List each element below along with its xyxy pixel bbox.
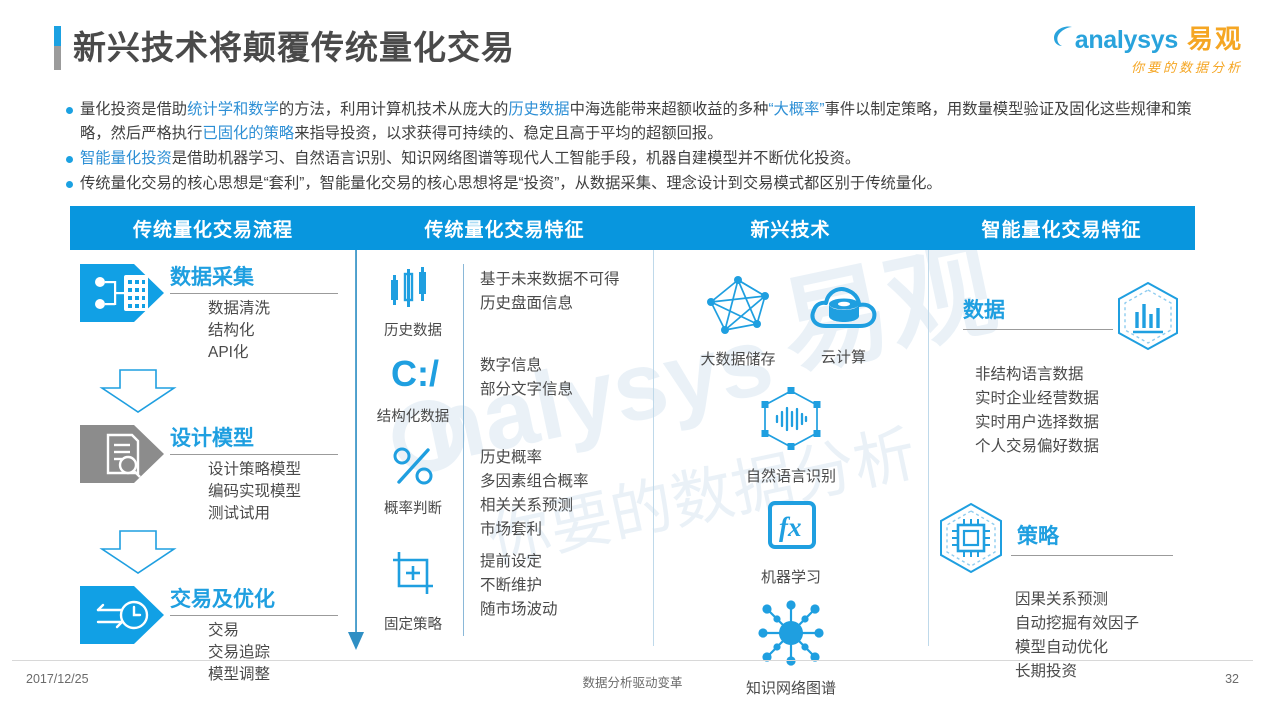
page-title: 新兴技术将颠覆传统量化交易 — [73, 26, 515, 70]
bullet-dot-icon — [66, 107, 73, 114]
smart-block-rule — [963, 329, 1113, 330]
feature-icon-label: 概率判断 — [367, 497, 459, 518]
logo-tagline: 你要的数据分析 — [1052, 57, 1243, 76]
smart-block-items: 非结构语言数据 实时企业经营数据 实时用户选择数据 个人交易偏好数据 — [975, 363, 1195, 459]
flow-title: 设计模型 — [170, 426, 338, 452]
tech-row-2: 自然语言识别 — [654, 383, 928, 486]
logo-english: analysys — [1075, 26, 1178, 54]
flow-item: 交易 — [208, 620, 338, 642]
page-title-wrap: 新兴技术将颠覆传统量化交易 — [54, 26, 515, 70]
smart-block-header: 数据 — [929, 270, 1195, 359]
feature-row: 固定策略 提前设定 不断维护 随市场波动 — [367, 546, 653, 636]
flow-item: API化 — [208, 342, 338, 364]
feature-item: 基于未来数据不可得 — [480, 268, 620, 292]
column-smart-features: 数据 — [928, 250, 1195, 646]
feature-icon-label: 历史数据 — [367, 319, 459, 340]
flow-step-design-model: 设计模型 设计策略模型 编码实现模型 测试试用 — [78, 423, 356, 525]
tech-big-data-storage: 大数据储存 — [700, 272, 775, 369]
footer-divider — [12, 660, 1253, 661]
bullet-plain: 传统量化交易的核心思想是“套利”，智能量化交易的核心思想将是“投资”，从数据采集… — [80, 175, 942, 192]
bullet-dot-icon — [66, 156, 73, 163]
bullet-item: 传统量化交易的核心思想是“套利”，智能量化交易的核心思想将是“投资”，从数据采集… — [66, 172, 1206, 196]
bullet-list: 量化投资是借助统计学和数学的方法，利用计算机技术从庞大的历史数据中海选能带来超额… — [66, 98, 1206, 197]
smart-item: 模型自动优化 — [1015, 636, 1195, 660]
column-emerging-tech: 大数据储存 云计算 — [653, 250, 928, 646]
column-header-traditional-features: 传统量化交易特征 — [356, 206, 653, 250]
column-traditional-features: 历史数据 基于未来数据不可得 历史盘面信息 C:/ 结构化数据 — [356, 250, 653, 646]
column-flow-connector-arrow-icon — [344, 250, 368, 655]
feature-item: 数字信息 — [480, 354, 573, 378]
svg-text:fx: fx — [779, 512, 802, 542]
chip-hex-icon — [931, 499, 1011, 582]
smart-block-header: 策略 — [929, 499, 1195, 582]
tech-label: 大数据储存 — [700, 348, 775, 369]
tech-cloud-computing: 云计算 — [806, 272, 882, 369]
fixed-strategy-icon: 固定策略 — [367, 546, 459, 634]
tech-row-3: fx 机器学习 — [654, 498, 928, 587]
feature-item: 随市场波动 — [480, 598, 558, 622]
bullet-item: 智能量化投资是借助机器学习、自然语言识别、知识网络图谱等现代人工智能手段，机器自… — [66, 147, 1206, 171]
flow-title: 数据采集 — [170, 265, 338, 291]
tech-row-1: 大数据储存 云计算 — [654, 272, 928, 369]
feature-icon-label: 结构化数据 — [367, 405, 459, 426]
smart-block-title: 策略 — [1017, 525, 1173, 549]
flow-item: 数据清洗 — [208, 298, 338, 320]
design-model-icon — [78, 423, 166, 485]
bullet-plain: 来指导投资，以求获得可持续的、稳定且高于平均的超额回报。 — [294, 125, 722, 142]
flow-step-trade-optimize: 交易及优化 交易 交易追踪 模型调整 — [78, 584, 356, 686]
column-header-flow: 传统量化交易流程 — [70, 206, 356, 250]
table-body: 数据采集 数据清洗 结构化 API化 — [70, 250, 1195, 646]
feature-row: 历史数据 基于未来数据不可得 历史盘面信息 — [367, 264, 653, 350]
flow-step-data-collection: 数据采集 数据清洗 结构化 API化 — [78, 262, 356, 364]
bullet-highlight: “大概率” — [768, 101, 824, 118]
column-header-emerging-tech: 新兴技术 — [653, 206, 928, 250]
feature-separator — [463, 264, 464, 350]
cloud-database-icon — [806, 278, 882, 338]
feature-item: 多因素组合概率 — [480, 470, 589, 494]
feature-item: 历史盘面信息 — [480, 292, 620, 316]
footer-title: 数据分析驱动变革 — [0, 672, 1265, 691]
comparison-table: 传统量化交易流程 传统量化交易特征 新兴技术 智能量化交易特征 — [70, 206, 1195, 646]
feature-icon-label: 固定策略 — [367, 613, 459, 634]
data-collection-icon — [78, 262, 166, 324]
svg-text:C:/: C:/ — [391, 353, 439, 394]
feature-items: 提前设定 不断维护 随市场波动 — [480, 546, 558, 622]
bullet-item: 量化投资是借助统计学和数学的方法，利用计算机技术从庞大的历史数据中海选能带来超额… — [66, 98, 1206, 146]
smart-item: 实时企业经营数据 — [975, 387, 1195, 411]
bullet-highlight: 统计学和数学 — [187, 101, 279, 118]
analysys-swoosh-icon — [1052, 24, 1074, 53]
smart-item: 非结构语言数据 — [975, 363, 1195, 387]
bullet-highlight: 已固化的策略 — [202, 125, 294, 142]
slide: nalysys 易观 你要的数据分析 新兴技术将颠覆传统量化交易 analysy… — [0, 0, 1265, 712]
drive-path-icon: C:/ 结构化数据 — [367, 350, 459, 426]
smart-item: 自动挖掘有效因子 — [1015, 612, 1195, 636]
tech-label: 云计算 — [806, 346, 882, 367]
feature-item: 市场套利 — [480, 518, 589, 542]
flow-item: 测试试用 — [208, 503, 338, 525]
flow-rule — [170, 615, 338, 616]
feature-items: 数字信息 部分文字信息 — [480, 350, 573, 402]
flow-title: 交易及优化 — [170, 587, 338, 613]
title-accent-bar — [54, 26, 61, 70]
bullet-text: 传统量化交易的核心思想是“套利”，智能量化交易的核心思想将是“投资”，从数据采集… — [80, 172, 1206, 196]
flow-rule — [170, 293, 338, 294]
flow-item: 编码实现模型 — [208, 481, 338, 503]
column-flow: 数据采集 数据清洗 结构化 API化 — [70, 250, 356, 646]
tech-nlp: 自然语言识别 — [746, 383, 836, 486]
flow-rule — [170, 454, 338, 455]
network-graph-icon — [701, 272, 775, 340]
brand-logo: analysys 易观 你要的数据分析 — [1052, 24, 1243, 76]
flow-item: 设计策略模型 — [208, 459, 338, 481]
smart-block-rule — [1011, 555, 1173, 556]
feature-item: 不断维护 — [480, 574, 558, 598]
smart-item: 因果关系预测 — [1015, 588, 1195, 612]
smart-block-data: 数据 — [929, 270, 1195, 459]
bullet-dot-icon — [66, 181, 73, 188]
feature-item: 历史概率 — [480, 446, 589, 470]
bullet-plain: 的方法，利用计算机技术从庞大的 — [279, 101, 508, 118]
tech-machine-learning: fx 机器学习 — [760, 498, 822, 587]
flow-down-arrow-icon — [96, 529, 356, 580]
fx-function-icon: fx — [760, 498, 822, 558]
bullet-plain: 中海选能带来超额收益的多种 — [570, 101, 769, 118]
table-header-row: 传统量化交易流程 传统量化交易特征 新兴技术 智能量化交易特征 — [70, 206, 1195, 250]
feature-separator — [463, 546, 464, 636]
footer-page-number: 32 — [1225, 672, 1239, 686]
candlestick-icon: 历史数据 — [367, 264, 459, 340]
smart-block-title: 数据 — [963, 299, 1113, 323]
smart-block-strategy: 策略 因果关系预测 自动挖掘有效因子 模型自动优化 长期投资 — [929, 499, 1195, 684]
feature-separator — [463, 350, 464, 442]
feature-item: 相关关系预测 — [480, 494, 589, 518]
bar-chart-hex-icon — [1109, 278, 1187, 359]
percent-icon: 概率判断 — [367, 442, 459, 518]
bullet-plain: 是借助机器学习、自然语言识别、知识网络图谱等现代人工智能手段，机器自建模型并不断… — [172, 150, 860, 167]
feature-row: 概率判断 历史概率 多因素组合概率 相关关系预测 市场套利 — [367, 442, 653, 546]
tech-label: 自然语言识别 — [746, 465, 836, 486]
knowledge-graph-icon — [753, 597, 829, 669]
flow-items: 数据清洗 结构化 API化 — [208, 298, 338, 364]
feature-items: 历史概率 多因素组合概率 相关关系预测 市场套利 — [480, 442, 589, 542]
feature-row: C:/ 结构化数据 数字信息 部分文字信息 — [367, 350, 653, 442]
bullet-highlight: 历史数据 — [508, 101, 569, 118]
flow-items: 设计策略模型 编码实现模型 测试试用 — [208, 459, 338, 525]
smart-block-items: 因果关系预测 自动挖掘有效因子 模型自动优化 长期投资 — [1015, 588, 1195, 684]
bullet-text: 智能量化投资是借助机器学习、自然语言识别、知识网络图谱等现代人工智能手段，机器自… — [80, 147, 1206, 171]
trade-optimize-icon — [78, 584, 166, 646]
column-header-smart-features: 智能量化交易特征 — [928, 206, 1195, 250]
logo-chinese: 易观 — [1187, 25, 1243, 53]
tech-label: 机器学习 — [760, 566, 822, 587]
feature-item: 部分文字信息 — [480, 378, 573, 402]
bullet-text: 量化投资是借助统计学和数学的方法，利用计算机技术从庞大的历史数据中海选能带来超额… — [80, 98, 1206, 146]
flow-item: 结构化 — [208, 320, 338, 342]
voice-waveform-icon — [751, 383, 831, 457]
flow-down-arrow-icon — [96, 368, 356, 419]
smart-item: 实时用户选择数据 — [975, 411, 1195, 435]
feature-separator — [463, 442, 464, 546]
smart-item: 个人交易偏好数据 — [975, 435, 1195, 459]
feature-item: 提前设定 — [480, 550, 558, 574]
bullet-plain: 量化投资是借助 — [80, 101, 187, 118]
feature-items: 基于未来数据不可得 历史盘面信息 — [480, 264, 620, 316]
bullet-highlight: 智能量化投资 — [80, 150, 172, 167]
